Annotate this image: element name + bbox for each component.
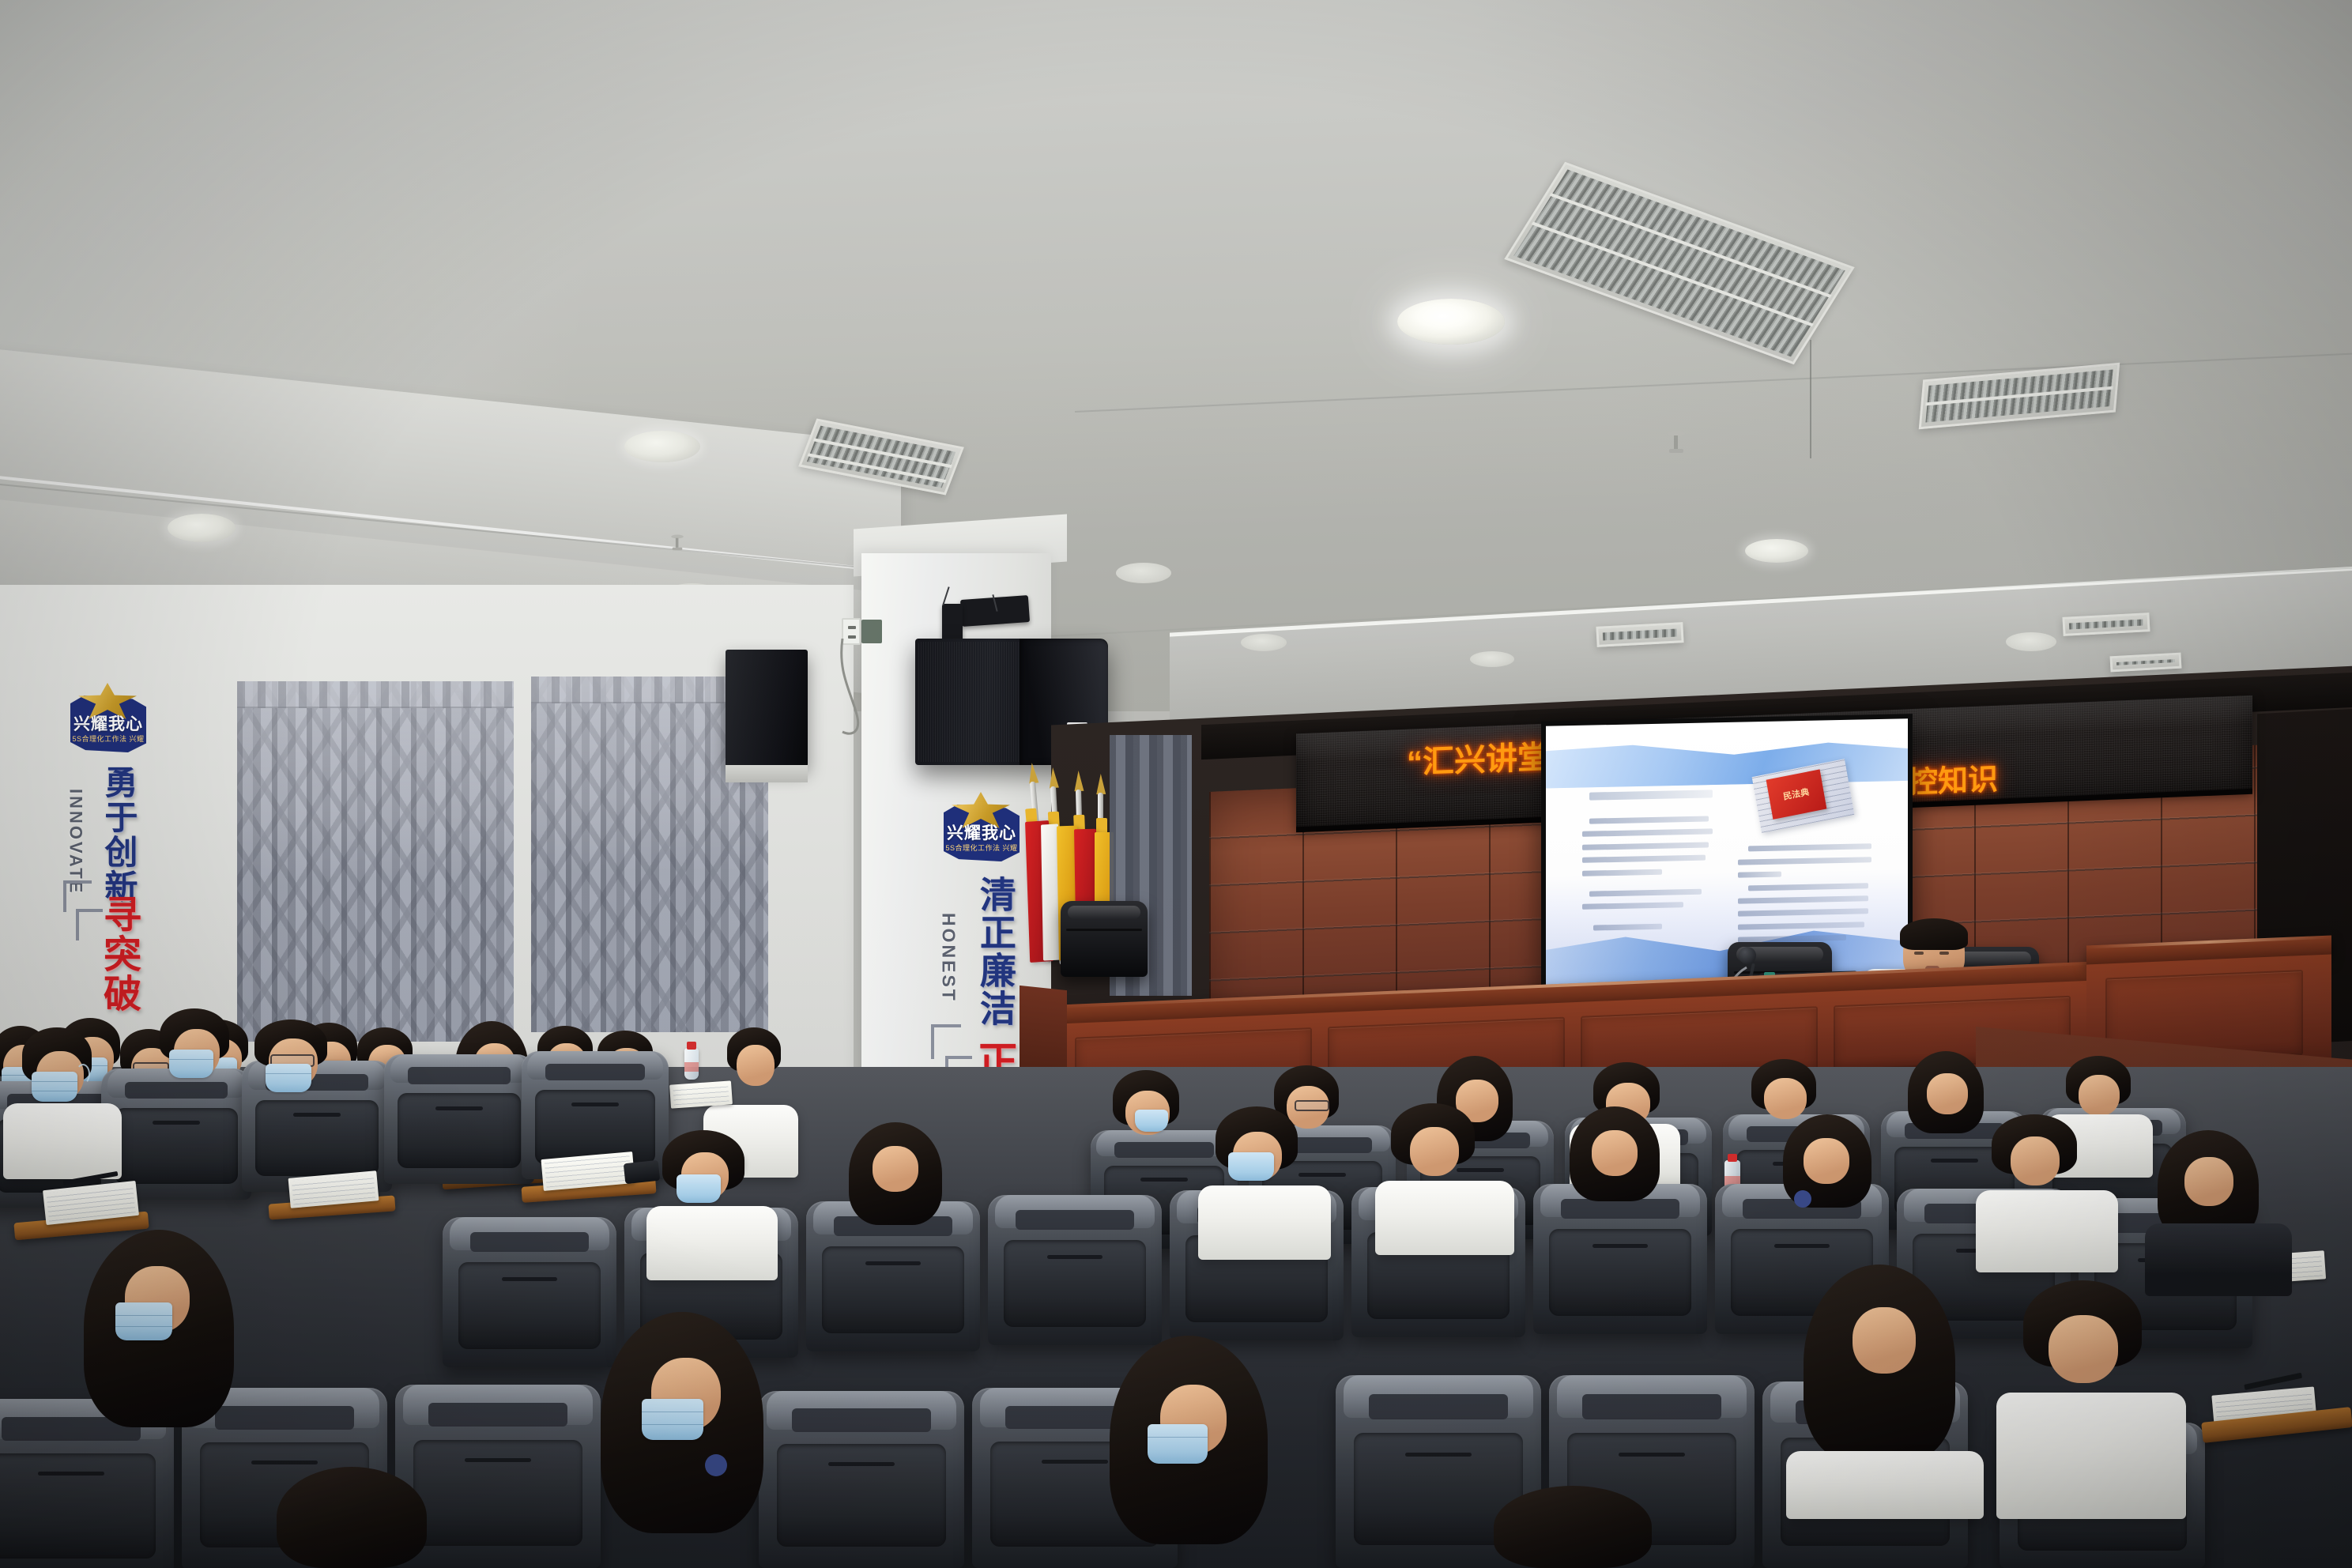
executive-chair	[1061, 901, 1148, 977]
decal-zigzag	[931, 1024, 961, 1059]
auditorium-seat[interactable]	[384, 1054, 534, 1184]
wall-speaker-secondary	[726, 650, 808, 767]
attendee-mask	[266, 1064, 311, 1092]
attendee-face	[1927, 1073, 1968, 1114]
ceiling-wire	[1810, 340, 1811, 458]
attendee-face	[1804, 1138, 1849, 1184]
company-star-badge-icon: 兴耀我心 5S合理化工作法 兴耀	[939, 790, 1024, 869]
hair-accessory	[1794, 1190, 1811, 1208]
slide-title-placeholder	[1589, 790, 1713, 801]
attendee	[2142, 1130, 2300, 1296]
attendee-notebook	[669, 1080, 733, 1108]
attendee	[1976, 1114, 2126, 1272]
ceiling-downlight	[1397, 299, 1505, 345]
decal-cn-blue-honest: 清正廉洁	[977, 873, 1014, 1031]
attendee-mask	[32, 1072, 77, 1102]
speaker-bracket-base	[726, 765, 808, 782]
attendee-hair	[277, 1467, 427, 1568]
attendee-foreground	[2000, 1280, 2205, 1517]
flag-finial-icon	[1027, 762, 1039, 783]
attendee	[11, 1027, 130, 1178]
attendee-shirt	[1976, 1190, 2118, 1272]
attendee-foreground	[1099, 1336, 1304, 1568]
attendee-mask	[677, 1174, 721, 1203]
attendee-mask	[642, 1399, 703, 1440]
ceiling-downlight	[624, 431, 700, 462]
badge-sub-text: 5S合理化工作法 兴耀	[72, 733, 145, 744]
hanging-cable	[830, 639, 893, 741]
decal-cn-red-innovate: 寻突破	[98, 895, 137, 1013]
attendee-foreground	[593, 1312, 798, 1568]
attendee-mask	[115, 1302, 172, 1340]
attendee-foreground	[1794, 1265, 1992, 1517]
fire-sprinkler-icon	[671, 535, 683, 552]
attendee-shirt	[1996, 1393, 2186, 1519]
attendee-mask	[169, 1050, 213, 1078]
ceiling-downlight	[1470, 651, 1514, 667]
attendee-face	[737, 1045, 775, 1086]
attendee-shirt	[1786, 1451, 1984, 1519]
slide-book-label: 民法典	[1782, 786, 1810, 803]
attendee-face	[1410, 1127, 1459, 1176]
attendee-foreground	[261, 1467, 466, 1568]
presenter-hair	[1900, 918, 1968, 950]
fire-sprinkler-icon	[1668, 431, 1685, 454]
attendee-foreground	[79, 1230, 277, 1467]
badge-cn-text: 兴耀我心	[947, 820, 1016, 844]
attendee-shirt	[1198, 1185, 1331, 1260]
attendee	[1770, 1114, 1913, 1265]
water-bottle	[684, 1048, 699, 1080]
projection-screen: 民法典	[1546, 718, 1908, 986]
attendee	[841, 1122, 983, 1265]
badge-cn-text: 兴耀我心	[73, 711, 143, 735]
attendee-shirt	[1375, 1181, 1514, 1255]
attendee-shirt	[3, 1103, 122, 1179]
wall-decal-innovate: 兴耀我心 5S合理化工作法 兴耀 INNOVATE 勇于创新 寻突破	[49, 681, 168, 966]
decal-cn-blue-innovate: 勇于创新	[101, 763, 135, 906]
attendee-face	[2011, 1136, 2060, 1185]
attendee-face	[2184, 1157, 2233, 1206]
slide-top-graphic	[1546, 739, 1908, 788]
attendee-shirt	[646, 1206, 778, 1280]
presenter-eye	[1914, 952, 1924, 955]
attendee-face	[873, 1146, 918, 1192]
attendee-face	[1764, 1078, 1807, 1119]
auditorium-photo: 兴耀我心 5S合理化工作法 兴耀 INNOVATE 勇于创新 寻突破 兴耀我心 …	[0, 0, 2352, 1568]
ceiling-downlight	[1745, 539, 1808, 563]
flag-finial-icon	[1074, 771, 1084, 791]
company-star-badge-icon: 兴耀我心 5S合理化工作法 兴耀	[66, 681, 151, 760]
attendee-foreground	[1478, 1486, 1683, 1568]
auditorium-seat[interactable]	[988, 1195, 1162, 1345]
hair-accessory	[705, 1454, 727, 1476]
auditorium-seat[interactable]	[443, 1217, 616, 1367]
attendee	[247, 1020, 365, 1178]
ceiling-downlight	[168, 514, 236, 542]
ceiling-downlight	[1116, 563, 1171, 583]
microphone-head-icon	[1739, 947, 1756, 964]
attendee-mask	[1135, 1110, 1168, 1132]
attendee-mask-earloop	[76, 1064, 90, 1084]
decal-english-honest: HONEST	[939, 879, 957, 1037]
presenter-eye	[1939, 952, 1949, 955]
ceiling-downlight	[2006, 632, 2056, 651]
attendee-face	[2079, 1075, 2120, 1116]
attendee-face	[1853, 1307, 1916, 1374]
attendee	[1375, 1103, 1525, 1253]
attendee	[1557, 1106, 1699, 1257]
decal-zigzag	[76, 909, 103, 940]
decal-zigzag	[63, 880, 92, 912]
window-left	[237, 681, 514, 1042]
attendee	[648, 1130, 790, 1280]
attendee-face	[2049, 1315, 2118, 1383]
badge-sub-text: 5S合理化工作法 兴耀	[945, 842, 1018, 853]
attendee-mask	[1228, 1152, 1274, 1181]
flag-finial-icon	[1096, 774, 1106, 794]
flag-finial-icon	[1048, 767, 1059, 789]
attendee-face	[1592, 1130, 1638, 1176]
attendee-mask	[1148, 1424, 1208, 1464]
attendee-hair	[1494, 1486, 1652, 1568]
attendee	[1201, 1106, 1344, 1257]
ceiling-downlight	[1241, 634, 1287, 651]
